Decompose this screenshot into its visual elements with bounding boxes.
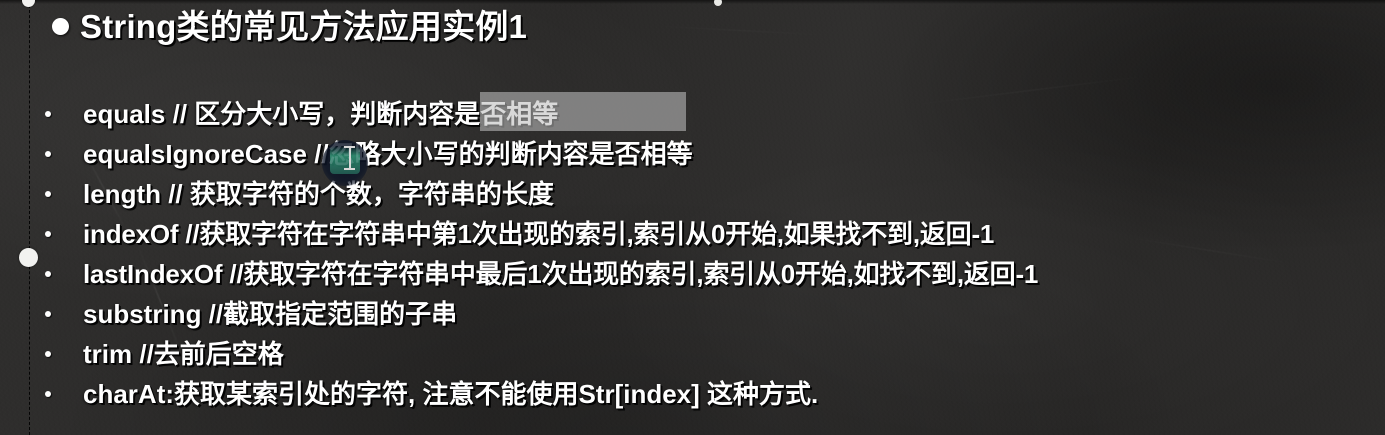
- small-dot-bullet-icon: [45, 311, 51, 317]
- list-item: length // 获取字符的个数，字符串的长度: [0, 174, 1385, 214]
- list-item-label: trim //去前后空格: [83, 334, 284, 374]
- list-item-label: length // 获取字符的个数，字符串的长度: [83, 174, 554, 214]
- list-item: equals // 区分大小写，判断内容是否相等: [0, 94, 1385, 134]
- filled-circle-bullet-icon: [52, 18, 69, 35]
- list-item-label: equals // 区分大小写，判断内容是否相等: [83, 94, 558, 134]
- list-item-label: substring //截取指定范围的子串: [83, 294, 457, 334]
- small-dot-bullet-icon: [45, 151, 51, 157]
- guide-marker-top-icon: [22, 0, 35, 7]
- small-dot-bullet-icon: [45, 271, 51, 277]
- small-dot-bullet-icon: [45, 391, 51, 397]
- list-item-label: lastIndexOf //获取字符在字符串中最后1次出现的索引,索引从0开始,…: [83, 254, 1038, 294]
- small-dot-bullet-icon: [45, 191, 51, 197]
- page-title: String类的常见方法应用实例1: [52, 8, 527, 46]
- list-item-label: indexOf //获取字符在字符串中第1次出现的索引,索引从0开始,如果找不到…: [83, 214, 994, 254]
- list-item: equalsIgnoreCase //忽略大小写的判断内容是否相等: [0, 134, 1385, 174]
- list-item: indexOf //获取字符在字符串中第1次出现的索引,索引从0开始,如果找不到…: [0, 214, 1385, 254]
- list-item-label: charAt:获取某索引处的字符, 注意不能使用Str[index] 这种方式.: [83, 374, 818, 414]
- small-dot-bullet-icon: [45, 351, 51, 357]
- list-item-label: equalsIgnoreCase //忽略大小写的判断内容是否相等: [83, 134, 693, 174]
- page-title-label: String类的常见方法应用实例1: [80, 8, 527, 46]
- list-item: trim //去前后空格: [0, 334, 1385, 374]
- small-dot-bullet-icon: [45, 111, 51, 117]
- bullet-list: equals // 区分大小写，判断内容是否相等 equalsIgnoreCas…: [0, 94, 1385, 414]
- stray-dot-icon: [714, 0, 722, 6]
- list-item: charAt:获取某索引处的字符, 注意不能使用Str[index] 这种方式.: [0, 374, 1385, 414]
- small-dot-bullet-icon: [45, 231, 51, 237]
- top-shadow-band: [0, 0, 1385, 4]
- list-item: lastIndexOf //获取字符在字符串中最后1次出现的索引,索引从0开始,…: [0, 254, 1385, 294]
- slide-canvas: String类的常见方法应用实例1 equals // 区分大小写，判断内容是否…: [0, 0, 1385, 435]
- list-item: substring //截取指定范围的子串: [0, 294, 1385, 334]
